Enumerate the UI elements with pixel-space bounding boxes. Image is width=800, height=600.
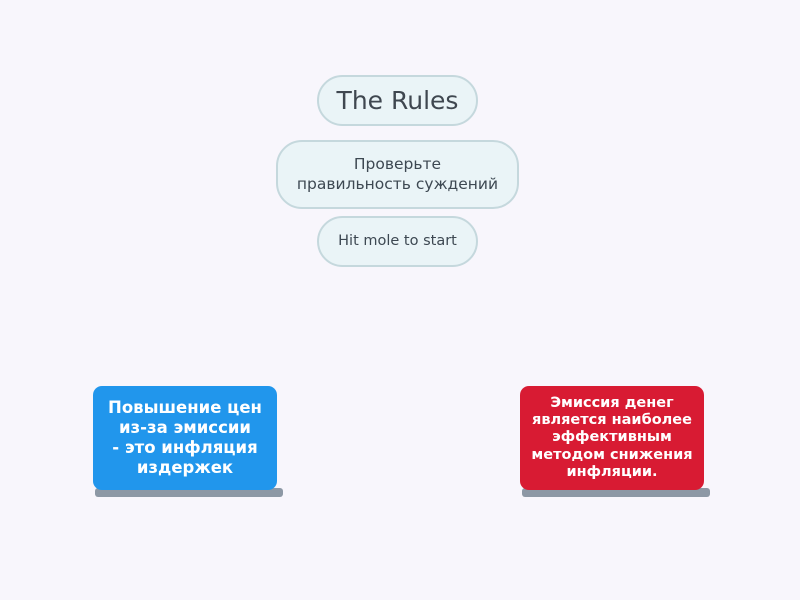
instruction-line-1: Проверьте: [297, 155, 498, 174]
rules-title-label: The Rules: [337, 85, 459, 116]
mole-card-left-line-3: - это инфляция: [108, 438, 262, 458]
mole-card-right-line-1: Эмиссия денег: [531, 395, 692, 412]
start-instruction-pill: Hit mole to start: [317, 216, 478, 267]
mole-card-left-line-4: издержек: [108, 458, 262, 478]
rules-title-pill: The Rules: [317, 75, 478, 126]
mole-card-right-line-5: инфляции.: [531, 464, 692, 481]
mole-card-left-text: Повышение цен из-за эмиссии - это инфляц…: [108, 398, 262, 479]
instruction-text: Проверьте правильность суждений: [297, 155, 498, 194]
mole-card-left[interactable]: Повышение цен из-за эмиссии - это инфляц…: [93, 377, 285, 497]
instruction-pill: Проверьте правильность суждений: [276, 140, 519, 209]
start-instruction-label: Hit mole to start: [338, 232, 457, 250]
mole-card-right-text: Эмиссия денег является наиболее эффектив…: [531, 395, 692, 482]
mole-card-right-line-3: эффективным: [531, 429, 692, 446]
game-stage: The Rules Проверьте правильность суждени…: [0, 0, 800, 600]
mole-card-right[interactable]: Эмиссия денег является наиболее эффектив…: [520, 377, 712, 497]
mole-card-right-body[interactable]: Эмиссия денег является наиболее эффектив…: [520, 386, 704, 490]
instruction-line-2: правильность суждений: [297, 175, 498, 194]
mole-card-left-line-1: Повышение цен: [108, 398, 262, 418]
mole-card-left-line-2: из-за эмиссии: [108, 418, 262, 438]
mole-card-right-line-2: является наиболее: [531, 412, 692, 429]
mole-card-left-body[interactable]: Повышение цен из-за эмиссии - это инфляц…: [93, 386, 277, 490]
mole-card-right-line-4: методом снижения: [531, 447, 692, 464]
